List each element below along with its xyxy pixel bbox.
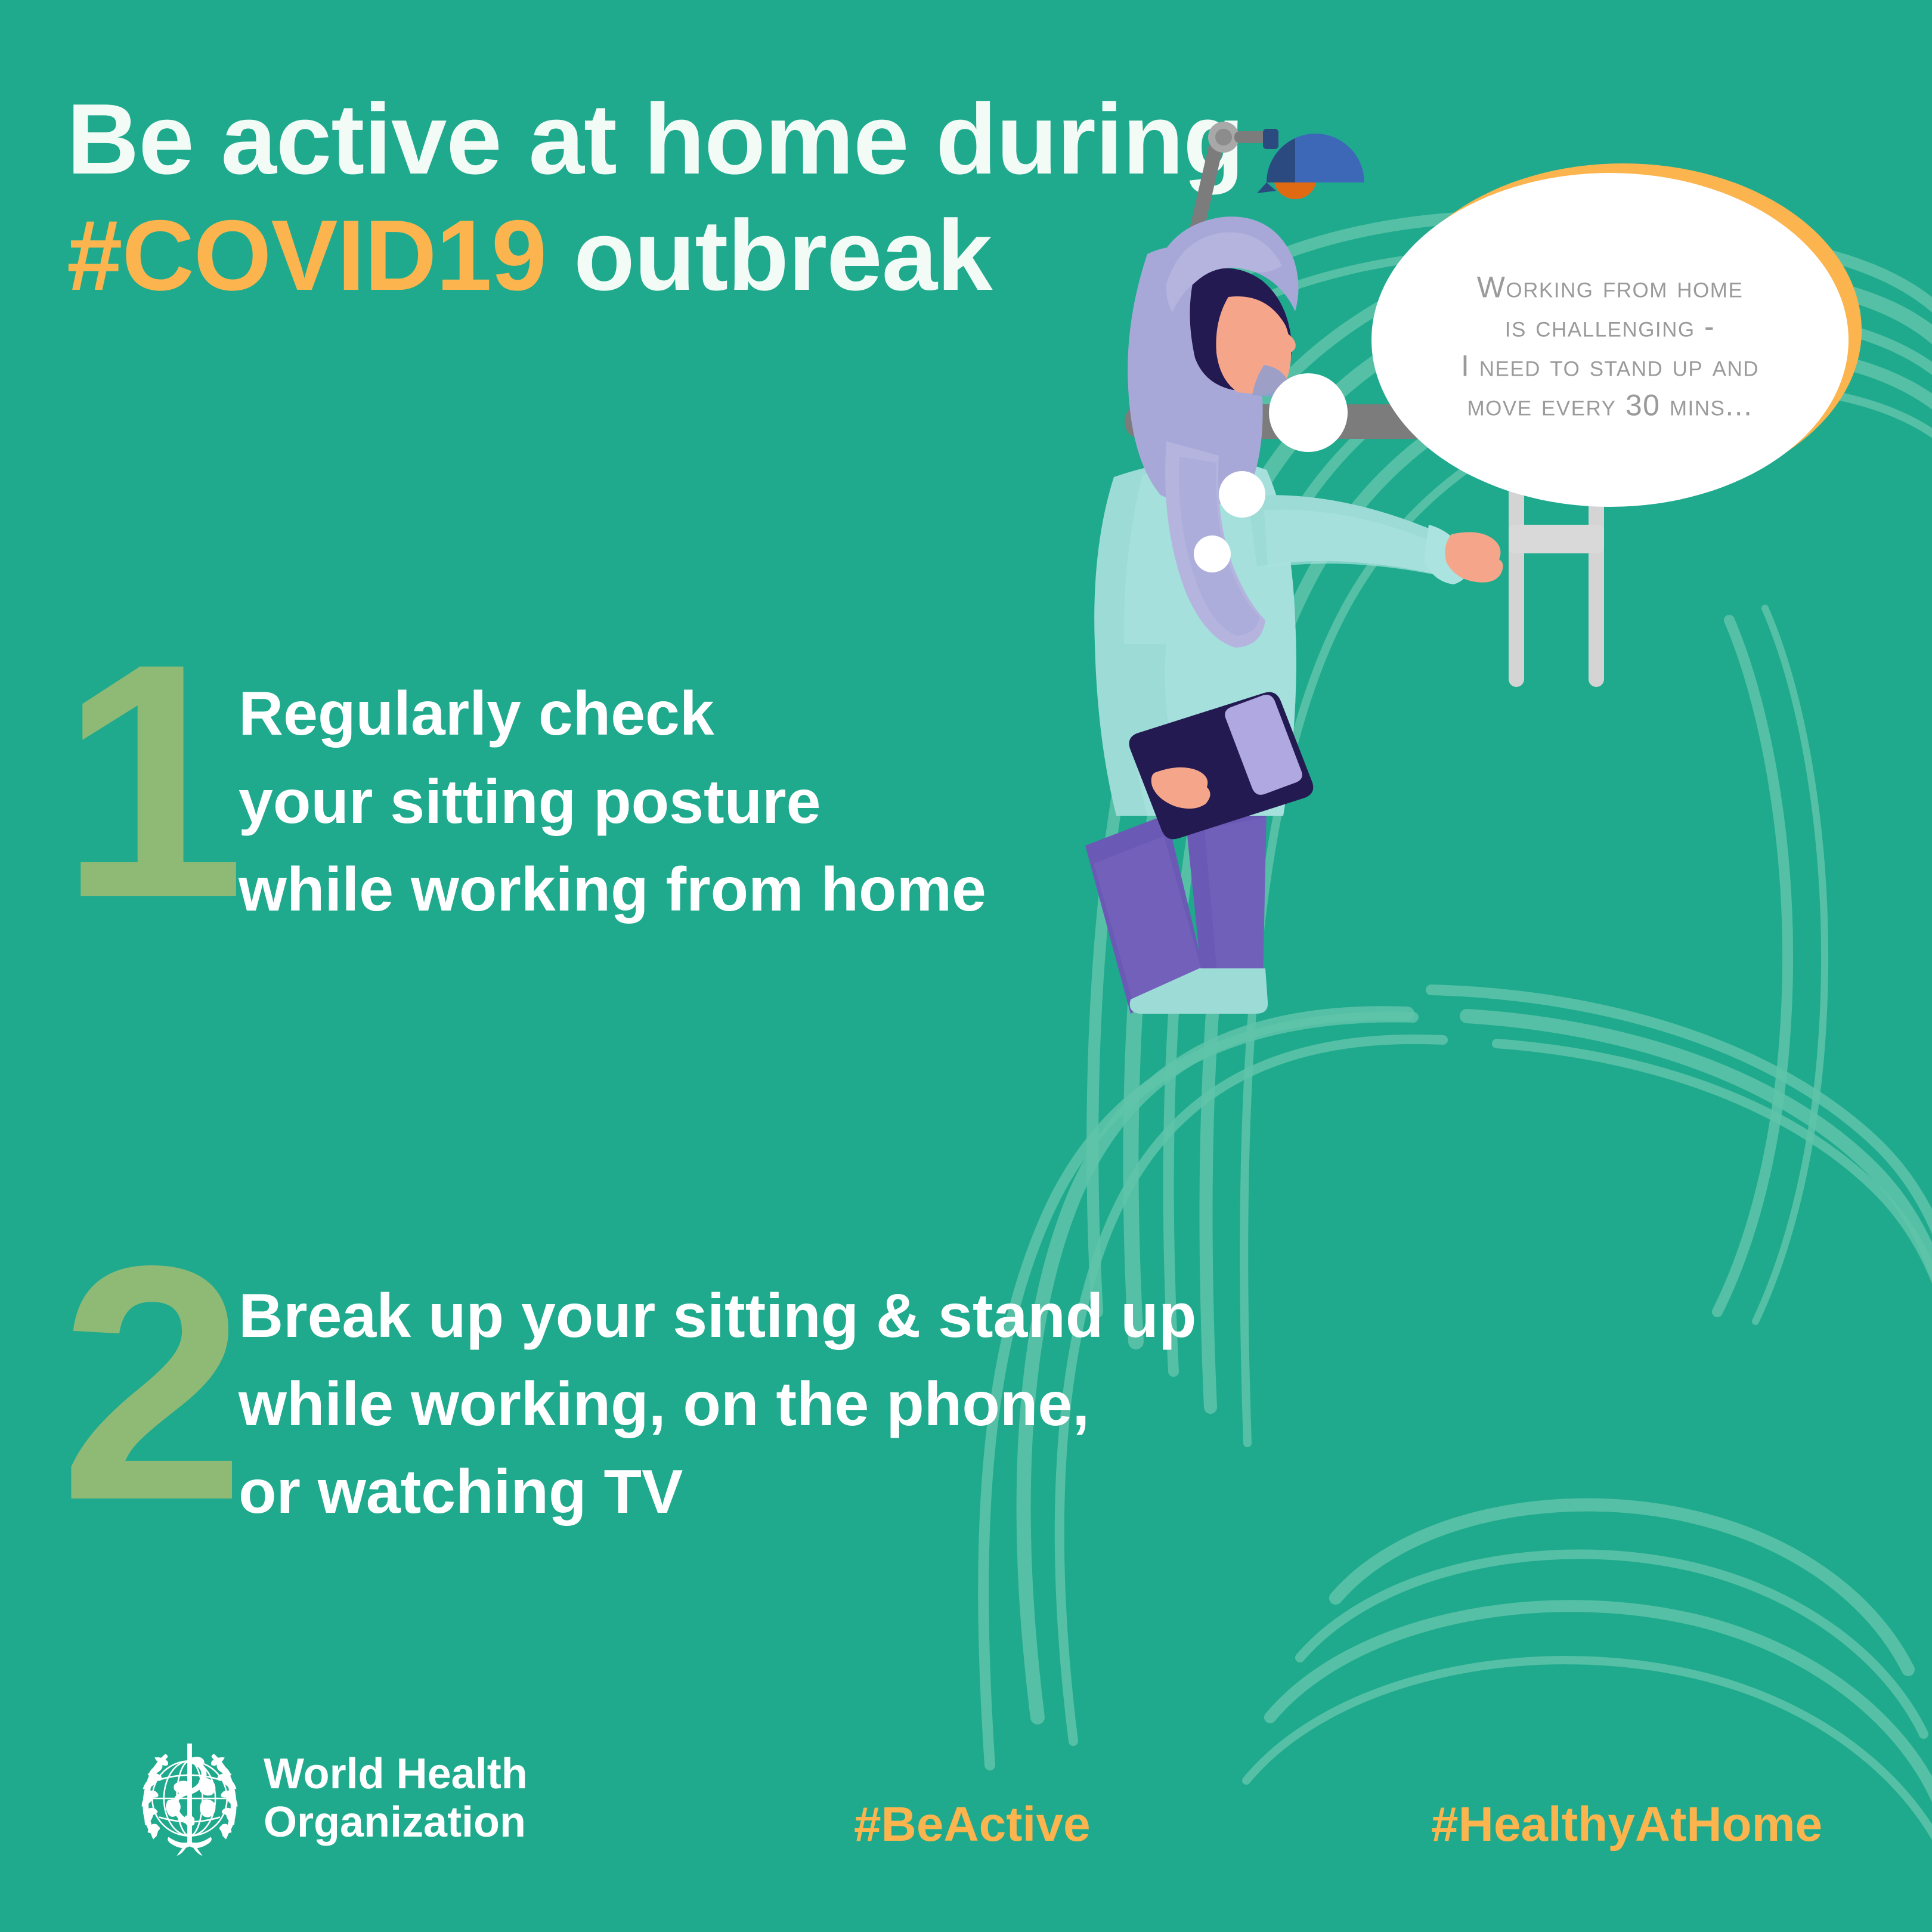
tip2-line-1: Break up your sitting & stand up — [239, 1272, 1196, 1361]
who-organization-name: World Health Organization — [264, 1750, 528, 1847]
tip-number-1: 1 — [60, 644, 239, 918]
bubble-line-4: move every 30 mins... — [1401, 386, 1819, 425]
thought-bubble-text: Working from home is challenging - I nee… — [1401, 268, 1819, 425]
tip-text-1: Regularly check your sitting posture whi… — [239, 644, 986, 934]
tip-text-2: Break up your sitting & stand up while w… — [239, 1246, 1196, 1537]
tip-number-2: 2 — [60, 1246, 239, 1520]
tip2-line-3: or watching TV — [239, 1448, 1196, 1537]
thought-bubble-dot-medium — [1219, 471, 1265, 518]
hashtag-beactive[interactable]: #BeActive — [854, 1797, 1091, 1853]
poster-canvas: Be active at home during #COVID19 outbre… — [0, 0, 1932, 1932]
who-emblem-icon — [131, 1740, 248, 1857]
thought-bubble-dot-large — [1269, 373, 1348, 452]
tip1-line-1: Regularly check — [239, 670, 986, 758]
covid19-hashtag: #COVID19 — [67, 199, 546, 311]
tip-item-1: 1 Regularly check your sitting posture w… — [60, 644, 986, 934]
tip1-line-2: your sitting posture — [239, 758, 986, 847]
tip1-line-3: while working from home — [239, 846, 986, 934]
tip2-line-2: while working, on the phone, — [239, 1361, 1196, 1449]
bubble-line-1: Working from home — [1401, 268, 1819, 307]
thought-bubble-dot-small — [1194, 535, 1231, 572]
who-logo: World Health Organization — [131, 1740, 528, 1857]
bubble-line-3: I need to stand up and — [1401, 346, 1819, 386]
thought-bubble: Working from home is challenging - I nee… — [1371, 173, 1849, 507]
headline-outbreak-word: outbreak — [546, 199, 992, 311]
tip-item-2: 2 Break up your sitting & stand up while… — [60, 1246, 1196, 1537]
hashtag-healthyathome[interactable]: #HealthyAtHome — [1431, 1797, 1822, 1853]
bubble-line-2: is challenging - — [1401, 307, 1819, 346]
